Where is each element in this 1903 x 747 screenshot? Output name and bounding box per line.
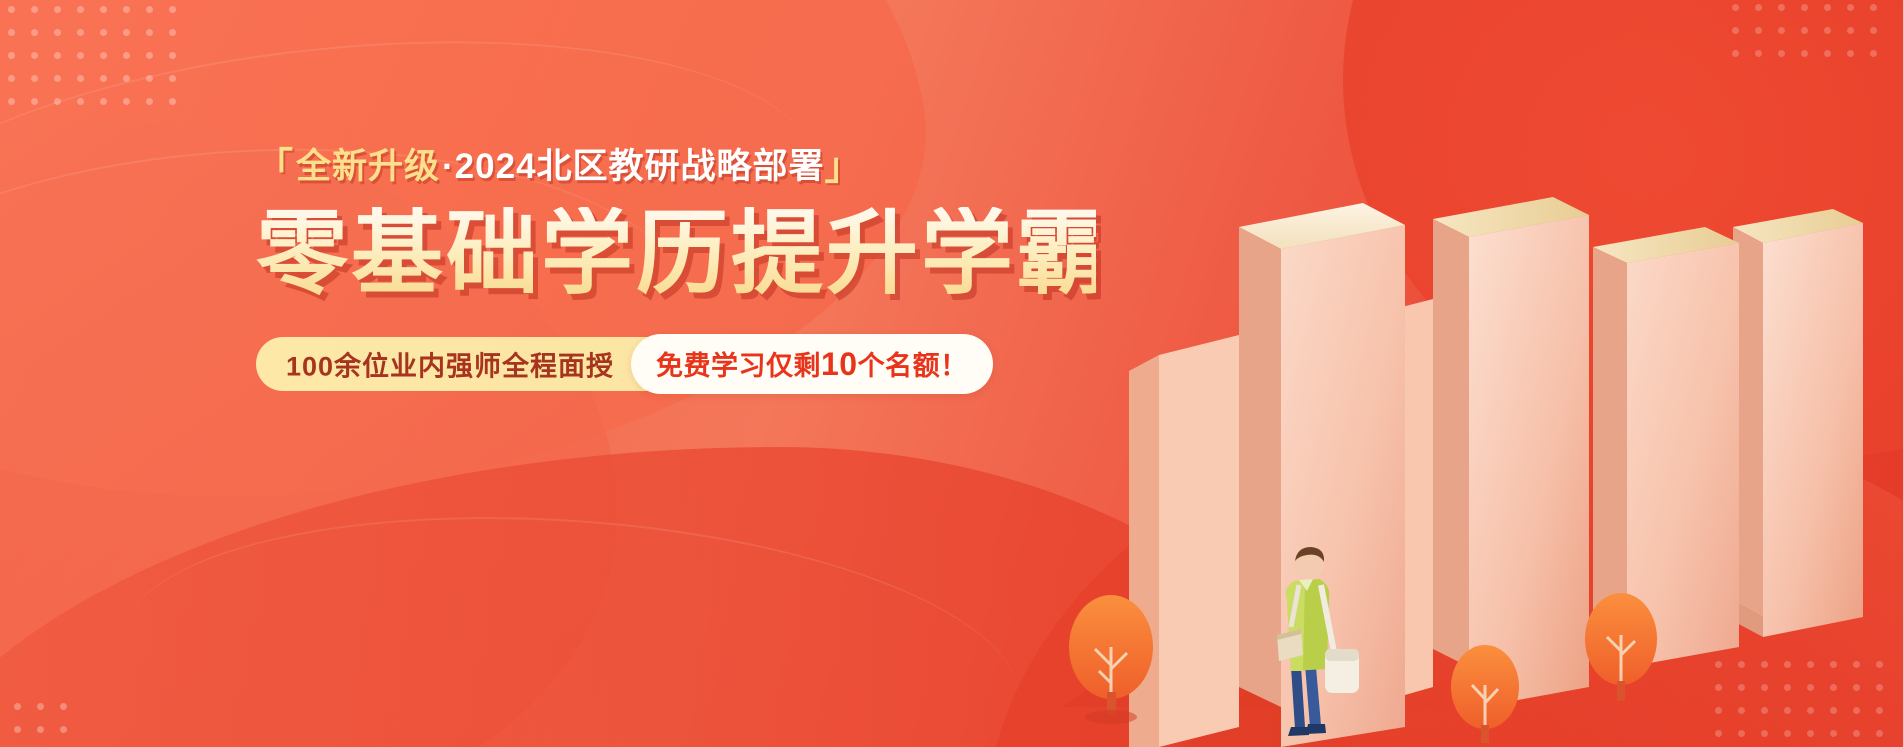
eyebrow-separator: · — [442, 149, 455, 184]
pill-instructors-label: 100余位业内强师全程面授 — [286, 344, 614, 383]
pill-free-seats[interactable]: 免费学习仅剩10个名额！ — [631, 334, 993, 394]
dot-pattern-top-right — [1732, 4, 1877, 57]
dot-pattern-bottom-left — [14, 703, 67, 733]
dot-pattern-top-left — [8, 6, 176, 105]
banner-copy: 「 全新升级 · 2024北区教研战略部署 」 零基础学历提升学霸班 100余位… — [256, 148, 1096, 391]
free-seats-suffix: 个名额！ — [858, 344, 968, 383]
eyebrow-text: 「 全新升级 · 2024北区教研战略部署 」 — [256, 148, 1096, 185]
pill-free-seats-label: 免费学习仅剩10个名额！ — [656, 344, 968, 383]
tree-middle — [1451, 645, 1519, 743]
book-4 — [1733, 209, 1863, 637]
page-title: 零基础学历提升学霸班 — [256, 207, 1096, 303]
open-bracket: 「 — [256, 148, 294, 185]
eyebrow-highlight: 全新升级 — [296, 149, 440, 184]
promo-banner: 「 全新升级 · 2024北区教研战略部署 」 零基础学历提升学霸班 100余位… — [0, 0, 1903, 747]
eyebrow-white-text: 2024北区教研战略部署 — [455, 149, 825, 184]
free-seats-count: 10 — [821, 346, 858, 383]
close-bracket: 」 — [825, 148, 863, 185]
tree-right — [1585, 593, 1657, 701]
benefit-pills: 100余位业内强师全程面授 免费学习仅剩10个名额！ — [256, 337, 956, 391]
free-seats-prefix: 免费学习仅剩 — [656, 344, 821, 383]
